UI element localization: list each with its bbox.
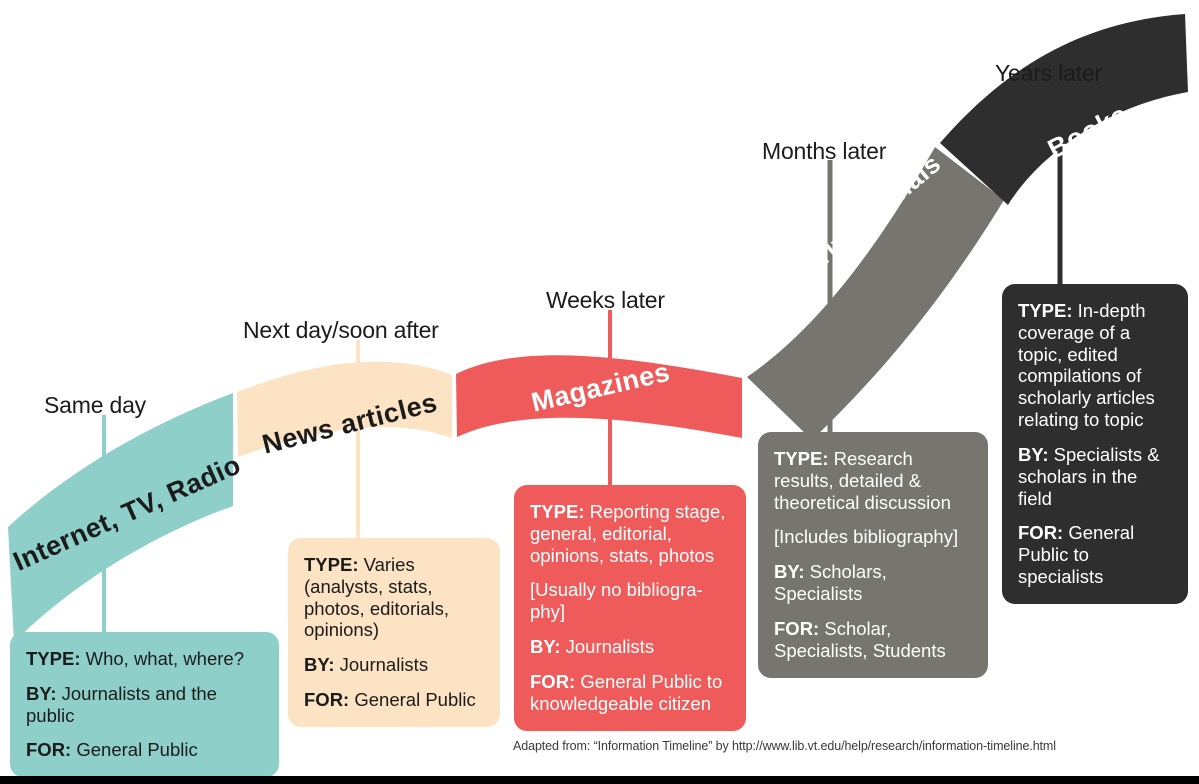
info-card-books[interactable]: TYPE: In-depth coverage of a topic, edit… — [1002, 284, 1188, 604]
card-row-by: BY: Journalists — [304, 654, 486, 676]
card-row-type: TYPE: In-depth coverage of a topic, edit… — [1018, 300, 1174, 431]
card-row-value: General Public — [71, 739, 197, 760]
ribbon-band-books — [940, 14, 1188, 205]
bottom-rule — [0, 776, 1199, 784]
card-row-label: BY: — [774, 561, 805, 582]
card-row-label: TYPE: — [1018, 300, 1072, 321]
card-row-for: FOR: General Public to knowledgeable cit… — [530, 671, 732, 715]
card-row-label: FOR: — [530, 671, 575, 692]
card-row-label: TYPE: — [530, 501, 584, 522]
card-row-by: BY: Specialists & scholars in the field — [1018, 444, 1174, 509]
info-card-scholarly-journals[interactable]: TYPE: Research results, detailed & theor… — [758, 432, 988, 678]
card-row-by: BY: Journalists — [530, 636, 732, 658]
time-label-magazines: Weeks later — [546, 287, 665, 314]
card-row-label: FOR: — [774, 618, 819, 639]
card-row-for: FOR: General Public to specialists — [1018, 522, 1174, 587]
card-row-type: TYPE: Who, what, where? — [26, 648, 265, 670]
card-row-label: BY: — [1018, 444, 1049, 465]
card-row-for: FOR: General Public — [304, 689, 486, 711]
card-row-by: BY: Journalists and the public — [26, 683, 265, 727]
time-label-scholarly-journals: Months later — [762, 138, 886, 165]
card-row-type: TYPE: Research results, detailed & theor… — [774, 448, 974, 513]
card-row-label: TYPE: — [26, 648, 80, 669]
card-row-for: FOR: Scholar, Specialists, Students — [774, 618, 974, 662]
card-row-label: FOR: — [1018, 522, 1063, 543]
source-attribution: Adapted from: “Information Timeline” by … — [513, 739, 1056, 753]
infographic-canvas: Same day Next day/soon after Weeks later… — [0, 0, 1199, 784]
card-row-type: TYPE: Varies (analysts, stats, photos, e… — [304, 554, 486, 641]
info-card-news-articles[interactable]: TYPE: Varies (analysts, stats, photos, e… — [288, 538, 500, 727]
card-row-label: BY: — [26, 683, 57, 704]
card-note: [Includes bibliography] — [774, 526, 974, 548]
card-row-for: FOR: General Public — [26, 739, 265, 761]
card-row-label: TYPE: — [774, 448, 828, 469]
card-row-label: TYPE: — [304, 554, 358, 575]
card-row-label: FOR: — [26, 739, 71, 760]
card-row-label: FOR: — [304, 689, 349, 710]
card-row-by: BY: Scholars, Specialists — [774, 561, 974, 605]
card-row-value: Journalists — [335, 654, 429, 675]
card-row-value: Who, what, where? — [80, 648, 244, 669]
time-label-news-articles: Next day/soon after — [243, 317, 439, 344]
ribbon-title-news-articles: News articles — [259, 387, 440, 460]
ribbon-title-scholarly-journals: Scholarly Journals — [742, 148, 947, 327]
info-card-internet-tv-radio[interactable]: TYPE: Who, what, where? BY: Journalists … — [10, 632, 279, 777]
time-label-internet-tv-radio: Same day — [44, 392, 146, 419]
card-row-value: Journalists — [561, 636, 655, 657]
card-row-label: BY: — [304, 654, 335, 675]
card-note: [Usually no bibliogra-phy] — [530, 579, 732, 623]
card-row-type: TYPE: Reporting stage, general, editoria… — [530, 501, 732, 566]
card-row-value: General Public — [349, 689, 475, 710]
ribbon-title-magazines: Magazines — [529, 357, 673, 419]
info-card-magazines[interactable]: TYPE: Reporting stage, general, editoria… — [514, 485, 746, 731]
time-label-books: Years later — [995, 60, 1102, 87]
card-row-label: BY: — [530, 636, 561, 657]
ribbon-title-books: Books — [1043, 99, 1133, 165]
ribbon-title-internet-tv-radio: Internet, TV, Radio — [9, 449, 246, 577]
